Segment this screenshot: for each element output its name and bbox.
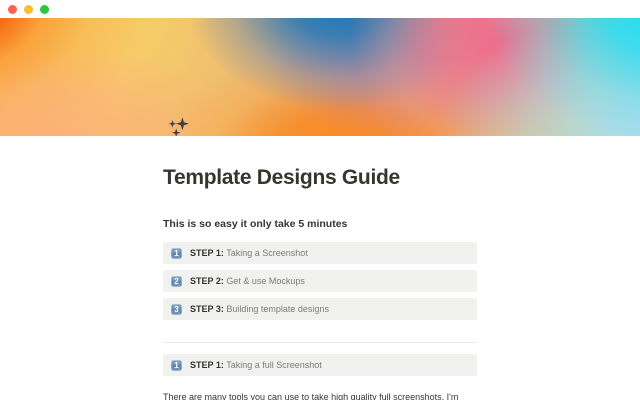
- keycap-three-icon: 3: [171, 304, 182, 315]
- app-window: Template Designs Guide This is so easy i…: [0, 0, 640, 400]
- paragraph-before-link: There are many tools you can use to take…: [163, 392, 458, 400]
- step-row-3-text: STEP 3: Building template designs: [190, 303, 329, 315]
- keycap-two-icon: 2: [171, 276, 182, 287]
- page-content: Template Designs Guide This is so easy i…: [163, 136, 477, 400]
- minimize-button-icon[interactable]: [24, 5, 33, 14]
- page-subtitle[interactable]: This is so easy it only take 5 minutes: [163, 191, 477, 231]
- step-row-2-label: STEP 2:: [190, 276, 224, 286]
- steps-list: 1 STEP 1: Taking a Screenshot 2 STEP 2: …: [163, 242, 477, 320]
- section-divider: [163, 342, 477, 343]
- section-heading-text: STEP 1: Taking a full Screenshot: [190, 359, 322, 371]
- step-row-2-text: STEP 2: Get & use Mockups: [190, 275, 305, 287]
- section-paragraph: There are many tools you can use to take…: [163, 382, 477, 400]
- window-controls: [8, 5, 49, 14]
- section-heading-label: STEP 1:: [190, 360, 224, 370]
- step-row-2-description: Get & use Mockups: [226, 276, 305, 286]
- step-row-3[interactable]: 3 STEP 3: Building template designs: [163, 298, 477, 320]
- keycap-one-icon: 1: [171, 248, 182, 259]
- page-title[interactable]: Template Designs Guide: [163, 136, 477, 191]
- section-heading-row[interactable]: 1 STEP 1: Taking a full Screenshot: [163, 354, 477, 376]
- step-row-3-description: Building template designs: [226, 304, 329, 314]
- close-button-icon[interactable]: [8, 5, 17, 14]
- maximize-button-icon[interactable]: [40, 5, 49, 14]
- document-body: Template Designs Guide This is so easy i…: [0, 136, 640, 400]
- step-row-1-text: STEP 1: Taking a Screenshot: [190, 247, 308, 259]
- step-row-1-label: STEP 1:: [190, 248, 224, 258]
- section-heading-description: Taking a full Screenshot: [226, 360, 322, 370]
- keycap-one-icon: 1: [171, 360, 182, 371]
- window-titlebar: [0, 0, 640, 18]
- step-row-2[interactable]: 2 STEP 2: Get & use Mockups: [163, 270, 477, 292]
- step-row-1-description: Taking a Screenshot: [226, 248, 308, 258]
- step-row-1[interactable]: 1 STEP 1: Taking a Screenshot: [163, 242, 477, 264]
- cover-banner[interactable]: [0, 18, 640, 136]
- step-row-3-label: STEP 3:: [190, 304, 224, 314]
